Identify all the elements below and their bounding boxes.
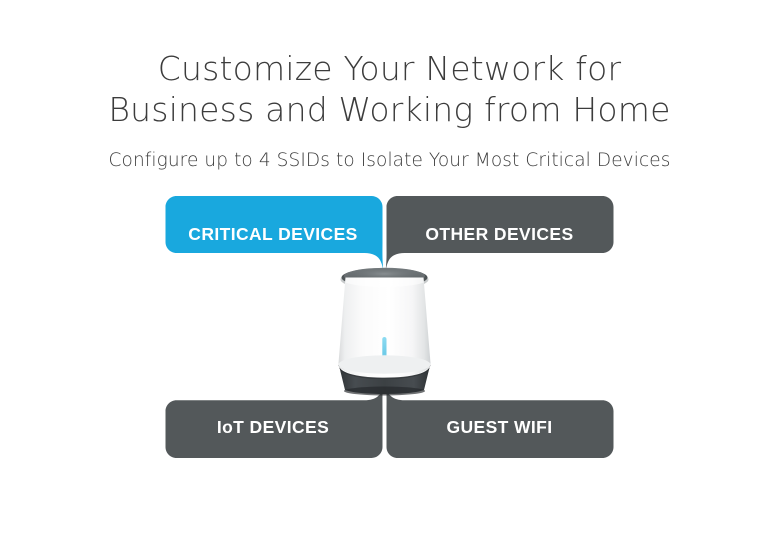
page-root: Customize Your Network for Business and … <box>0 0 779 536</box>
callout-label-iot-devices: IoT DEVICES <box>166 417 380 438</box>
network-diagram: CRITICAL DEVICES OTHER DEVICES IoT DEVIC… <box>0 0 779 536</box>
router-foot-shadow <box>344 387 425 396</box>
router-base-top-edge <box>339 355 431 373</box>
callout-label-critical-devices: CRITICAL DEVICES <box>166 224 380 245</box>
orbi-router-icon <box>339 268 431 396</box>
callout-label-other-devices: OTHER DEVICES <box>390 224 609 245</box>
callout-label-guest-wifi: GUEST WIFI <box>390 417 609 438</box>
